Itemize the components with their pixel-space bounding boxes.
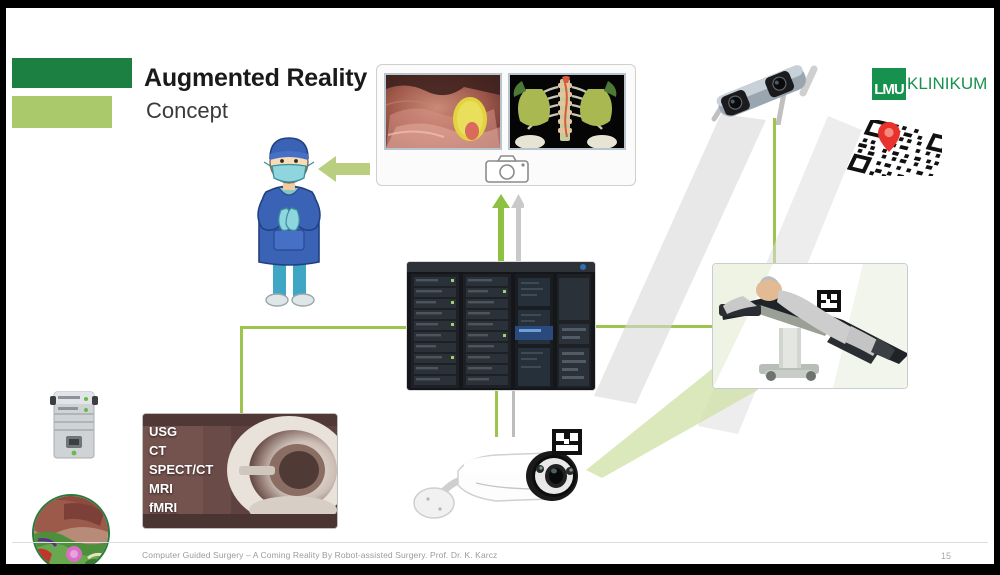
- page-title: Augmented Reality: [144, 64, 367, 93]
- arrow-up-green-icon: [490, 194, 524, 264]
- slide-canvas: Augmented Reality Concept LMU KLINIKUM: [6, 8, 994, 564]
- camera-icon[interactable]: [485, 155, 529, 183]
- klinikum-logo-text: KLINIKUM: [907, 74, 987, 94]
- connector-mri-to-server: [240, 326, 408, 329]
- modality-item-2: SPECT/CT: [149, 460, 213, 479]
- server-rack: [406, 261, 596, 391]
- footer-divider: [12, 542, 988, 543]
- server-rack-image: [407, 262, 595, 390]
- page-subtitle: Concept: [146, 98, 228, 124]
- imaging-modality-list: USG CT SPECT/CT MRI fMRI: [149, 422, 213, 517]
- title-accent-dark: [12, 58, 132, 88]
- anatomy-photo-circle: [32, 494, 110, 564]
- lmu-klinikum-logo: LMU KLINIKUM: [872, 68, 987, 100]
- page-number: 15: [941, 551, 951, 561]
- slide-frame: Augmented Reality Concept LMU KLINIKUM: [0, 0, 1000, 575]
- operating-table-with-patient: [713, 264, 907, 388]
- laparoscopic-image: [386, 75, 500, 148]
- lmu-logo-mark: LMU: [872, 68, 906, 100]
- operating-table-panel: [712, 263, 908, 389]
- tracking-camera: [410, 423, 592, 521]
- connector-mri-drop: [240, 326, 243, 414]
- modality-item-1: CT: [149, 441, 213, 460]
- title-accent-light: [12, 96, 112, 128]
- modality-item-0: USG: [149, 422, 213, 441]
- anatomy-photo: [34, 496, 108, 564]
- modality-item-4: fMRI: [149, 498, 213, 517]
- workstation-tower: [50, 390, 98, 460]
- surgeon-figure: [246, 130, 332, 310]
- laparoscopic-view-screen: [384, 73, 502, 150]
- mri-scanner-panel: USG CT SPECT/CT MRI fMRI: [142, 413, 338, 529]
- modality-item-3: MRI: [149, 479, 213, 498]
- footer-text: Computer Guided Surgery – A Coming Reali…: [142, 550, 497, 560]
